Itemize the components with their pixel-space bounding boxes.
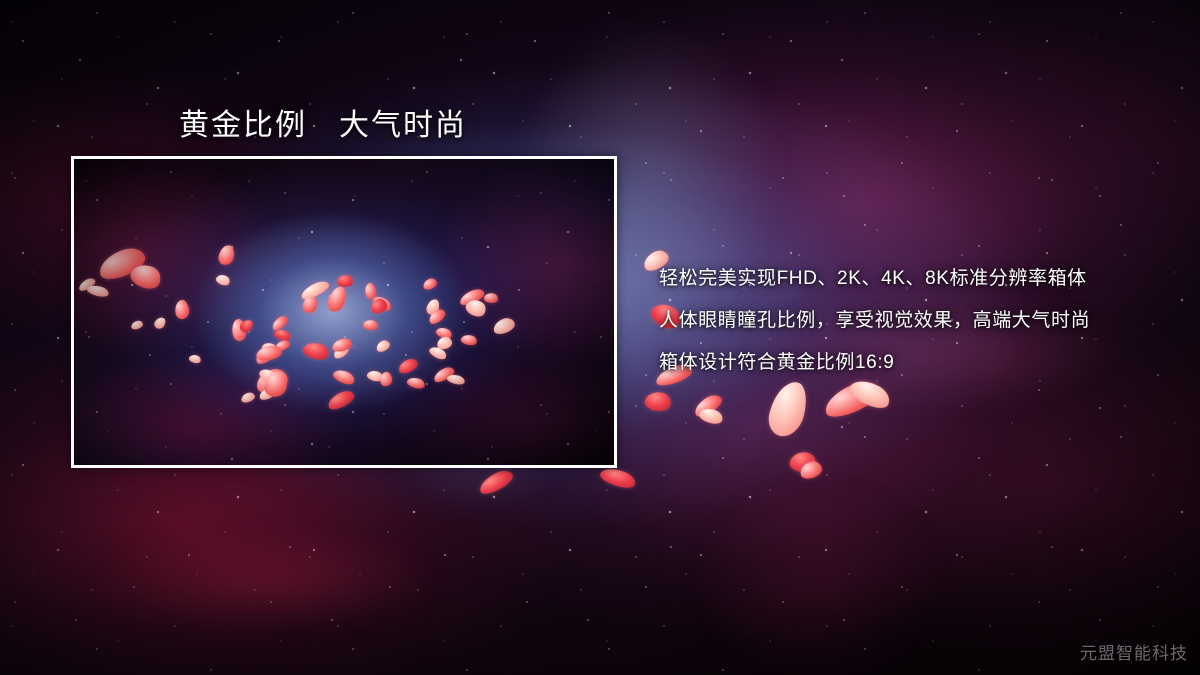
framed-image — [71, 156, 617, 468]
body-line-3: 箱体设计符合黄金比例16:9 — [659, 342, 1179, 384]
body-copy: 轻松完美实现FHD、2K、4K、8K标准分辨率箱体 人体眼睛瞳孔比例，享受视觉效… — [659, 258, 1179, 384]
body-line-1: 轻松完美实现FHD、2K、4K、8K标准分辨率箱体 — [659, 258, 1179, 300]
page-title: 黄金比例 大气时尚 — [179, 100, 467, 144]
watermark: 元盟智能科技 — [1080, 639, 1188, 664]
body-line-2: 人体眼睛瞳孔比例，享受视觉效果，高端大气时尚 — [659, 300, 1179, 342]
slide-canvas: 黄金比例 大气时尚 轻松完美实现FHD、2K、4K、8K标准分辨率箱体 人体眼睛… — [0, 0, 1200, 675]
framed-image-vignette — [74, 159, 614, 465]
